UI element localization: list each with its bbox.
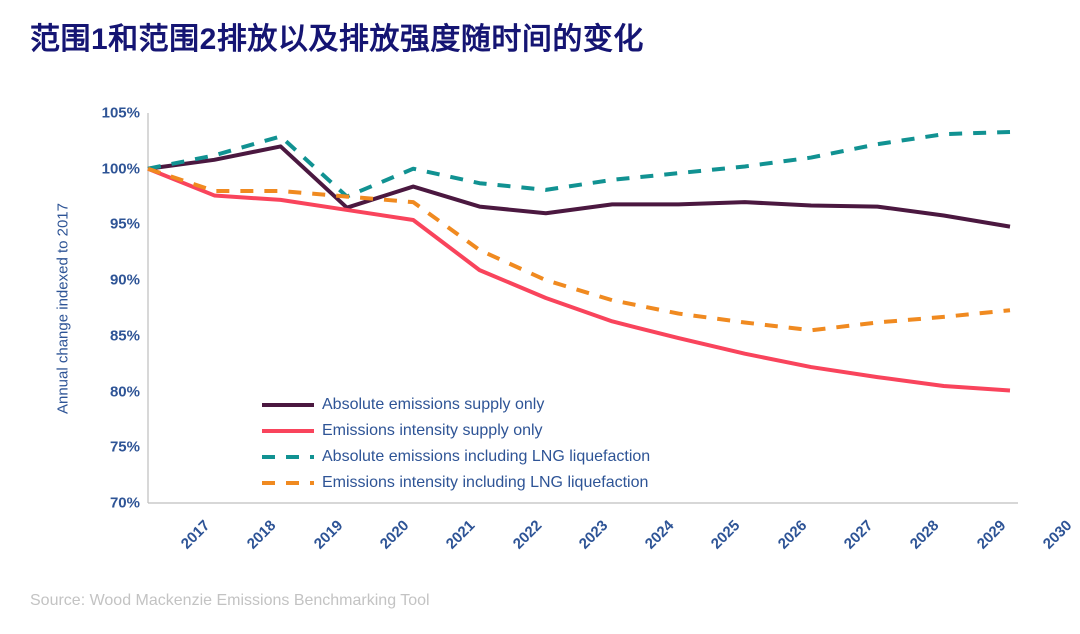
legend-item-label: Absolute emissions supply only <box>322 396 544 414</box>
legend-item[interactable]: Emissions intensity including LNG liquef… <box>262 470 732 496</box>
series-lines <box>148 132 1010 391</box>
chart-legend: Absolute emissions supply onlyEmissions … <box>262 392 732 496</box>
legend-swatch-icon <box>262 476 314 490</box>
legend-item-label: Absolute emissions including LNG liquefa… <box>322 448 650 466</box>
legend-item[interactable]: Absolute emissions including LNG liquefa… <box>262 444 732 470</box>
plot-area <box>0 0 1080 634</box>
legend-item-label: Emissions intensity supply only <box>322 422 543 440</box>
chart-container: 范围1和范围2排放以及排放强度随时间的变化 Annual change inde… <box>0 0 1080 634</box>
series-line-1 <box>148 169 1010 391</box>
source-note: Source: Wood Mackenzie Emissions Benchma… <box>30 592 430 610</box>
series-line-2 <box>148 132 1010 197</box>
legend-swatch-icon <box>262 398 314 412</box>
legend-item[interactable]: Emissions intensity supply only <box>262 418 732 444</box>
legend-item-label: Emissions intensity including LNG liquef… <box>322 474 648 492</box>
series-line-3 <box>148 169 1010 331</box>
legend-swatch-icon <box>262 424 314 438</box>
legend-swatch-icon <box>262 450 314 464</box>
legend-item[interactable]: Absolute emissions supply only <box>262 392 732 418</box>
